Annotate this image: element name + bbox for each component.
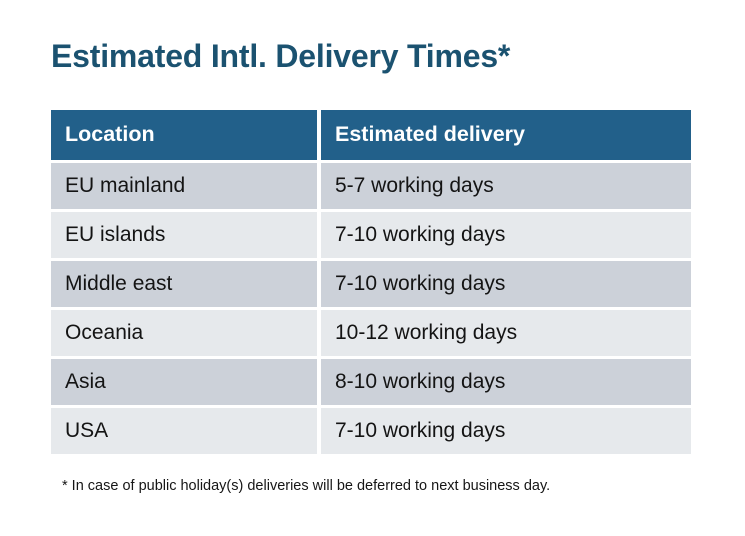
cell-location: USA: [51, 405, 321, 454]
cell-delivery: 7-10 working days: [321, 258, 691, 307]
cell-delivery: 5-7 working days: [321, 160, 691, 209]
column-header-estimated-delivery: Estimated delivery: [321, 110, 691, 160]
table-row: Middle east 7-10 working days: [51, 258, 691, 307]
delivery-times-table: Location Estimated delivery EU mainland …: [51, 110, 691, 454]
table-row: Asia 8-10 working days: [51, 356, 691, 405]
cell-location: EU islands: [51, 209, 321, 258]
footnote-text: * In case of public holiday(s) deliverie…: [62, 478, 550, 494]
table-body: EU mainland 5-7 working days EU islands …: [51, 160, 691, 454]
cell-delivery: 7-10 working days: [321, 405, 691, 454]
cell-delivery: 7-10 working days: [321, 209, 691, 258]
page-title: Estimated Intl. Delivery Times*: [51, 38, 510, 75]
table-row: EU islands 7-10 working days: [51, 209, 691, 258]
delivery-times-page: Estimated Intl. Delivery Times* Location…: [0, 0, 745, 536]
column-header-location: Location: [51, 110, 321, 160]
table-row: EU mainland 5-7 working days: [51, 160, 691, 209]
cell-delivery: 10-12 working days: [321, 307, 691, 356]
table-header: Location Estimated delivery: [51, 110, 691, 160]
table-row: Oceania 10-12 working days: [51, 307, 691, 356]
cell-delivery: 8-10 working days: [321, 356, 691, 405]
table-row: USA 7-10 working days: [51, 405, 691, 454]
cell-location: EU mainland: [51, 160, 321, 209]
table-header-row: Location Estimated delivery: [51, 110, 691, 160]
cell-location: Asia: [51, 356, 321, 405]
cell-location: Oceania: [51, 307, 321, 356]
cell-location: Middle east: [51, 258, 321, 307]
